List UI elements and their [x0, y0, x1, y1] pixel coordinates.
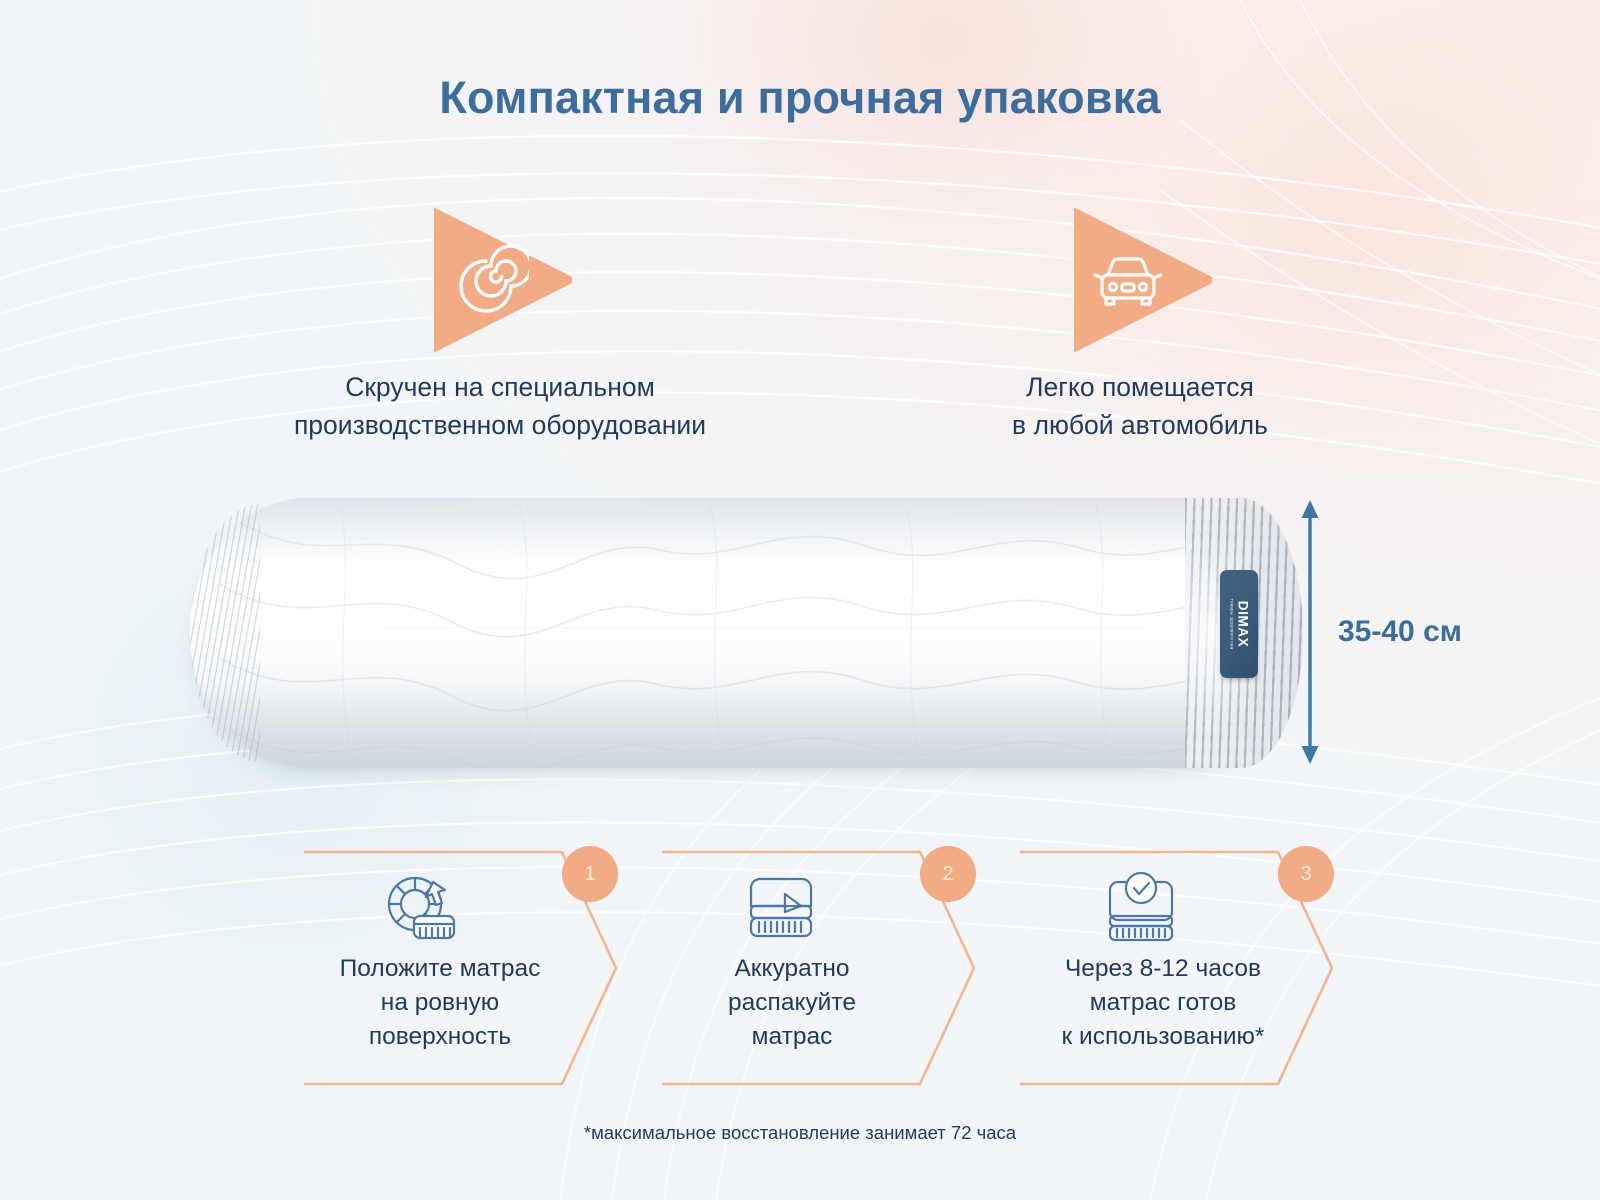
- double-headed-vertical-arrow-icon: [1290, 498, 1330, 766]
- step-item-1: 1 Положите матрас на ровную поверхность: [300, 846, 622, 1090]
- feature-rolled-on-equipment: Скручен на специальном производственном …: [180, 196, 820, 444]
- height-dimension: 35-40 см: [1290, 498, 1550, 766]
- step-label: Положите матрас на ровную поверхность: [284, 952, 596, 1053]
- dimension-value: 35-40 см: [1338, 615, 1462, 649]
- unwrap-mattress-icon: [741, 872, 821, 951]
- brand-name: DIMAX: [1236, 599, 1250, 650]
- roll-top-shading: [190, 498, 1295, 568]
- mattress-check-icon: [1101, 872, 1181, 953]
- feature-icon-wrap: [880, 196, 1400, 364]
- step-item-3: 3 Через 8-12 часов матрас готов к исполь…: [1016, 846, 1338, 1090]
- feature-label: Скручен на специальном производственном …: [180, 368, 820, 444]
- step-number-badge: 1: [562, 846, 618, 902]
- instruction-steps: 1 Положите матрас на ровную поверхность: [300, 846, 1300, 1090]
- car-icon: [1065, 201, 1215, 359]
- feature-label: Легко помещается в любой автомобиль: [880, 368, 1400, 444]
- mattress-roll: DIMAX товары здорового сна: [190, 498, 1295, 768]
- step-number-badge: 2: [920, 846, 976, 902]
- step-label: Аккуратно распакуйте матрас: [636, 952, 948, 1053]
- brand-label-tag: DIMAX товары здорового сна: [1220, 570, 1258, 678]
- measuring-tape-mattress-icon: [384, 872, 466, 953]
- feature-icon-wrap: [180, 196, 820, 364]
- roll-bottom-shading: [190, 678, 1295, 768]
- brand-tagline: товары здорового сна: [1229, 599, 1234, 650]
- feature-fits-any-car: Легко помещается в любой автомобиль: [880, 196, 1400, 444]
- spiral-roll-icon: [425, 201, 575, 359]
- step-number-badge: 3: [1278, 846, 1334, 902]
- brand-label-text: DIMAX товары здорового сна: [1229, 599, 1250, 650]
- rolled-mattress-image: DIMAX товары здорового сна: [150, 470, 1330, 810]
- page-title: Компактная и прочная упаковка: [0, 72, 1600, 124]
- roll-body: [190, 498, 1295, 768]
- footnote: *максимальное восстановление занимает 72…: [0, 1122, 1600, 1144]
- step-item-2: 2 Аккуратно распакуйте матрас: [658, 846, 980, 1090]
- step-label: Через 8-12 часов матрас готов к использо…: [1002, 952, 1324, 1053]
